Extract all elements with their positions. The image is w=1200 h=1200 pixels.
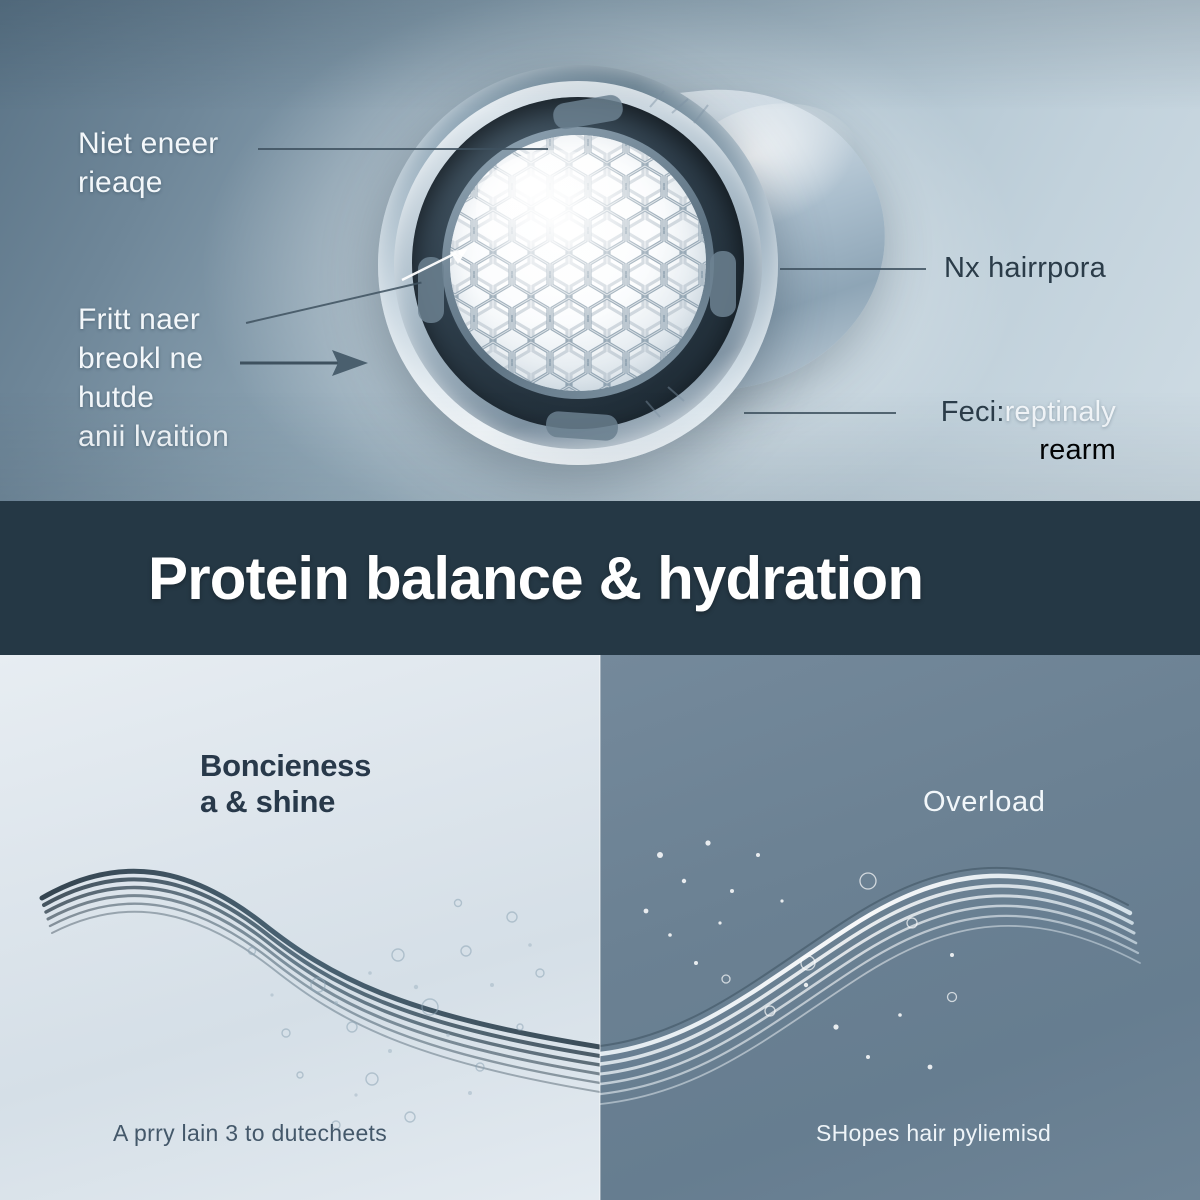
core-pointer-arrow-icon	[400, 246, 470, 291]
panel-left-title-line1: Boncieness	[200, 748, 371, 784]
panel-left-title-line2: a & shine	[200, 784, 371, 820]
panel-left-caption: A prry lain 3 to dutecheets	[113, 1120, 387, 1147]
panel-overload	[600, 655, 1200, 1200]
hair-strands-light-illustration	[600, 655, 1200, 1200]
panel-right-title-line1: Overload	[923, 786, 1045, 820]
infographic-poster: Niet eneer rieaqe Fritt naer breokl ne h…	[0, 0, 1200, 1200]
panel-right-title: Overload	[923, 786, 1045, 820]
diagram-label-mid-left-line2: breokl ne	[78, 339, 229, 378]
diagram-label-lower-right: Feci:reptinaly rearm	[904, 394, 1116, 469]
honeycomb-gloss	[476, 150, 635, 268]
panel-divider	[599, 655, 601, 1200]
hair-strands-dark-illustration	[0, 655, 600, 1200]
diagram-label-top-left-line1: Niet eneer	[78, 124, 218, 163]
panel-balanced	[0, 655, 600, 1200]
diagram-label-mid-left: Fritt naer breokl ne hutde anii lvaition	[78, 300, 229, 456]
diagram-label-mid-left-line4: anii lvaition	[78, 417, 229, 456]
leader-line-top-left	[258, 148, 548, 150]
breakage-arrow-icon	[240, 348, 370, 383]
leader-line-lower-right	[744, 412, 896, 414]
honeycomb-core	[450, 135, 706, 391]
leader-line-mid-right	[780, 268, 926, 270]
diagram-section: Niet eneer rieaqe Fritt naer breokl ne h…	[0, 0, 1200, 501]
panel-right-caption: SHopes hair pyliemisd	[816, 1120, 1051, 1147]
diagram-label-lower-right-line1: Feci:	[941, 396, 1005, 428]
comparison-panels	[0, 655, 1200, 1200]
diagram-label-mid-right-line1: Nx hairrpora	[944, 250, 1106, 288]
title-banner: Protein balance & hydration	[0, 501, 1200, 655]
diagram-label-mid-left-line3: hutde	[78, 378, 229, 417]
page-title: Protein balance & hydration	[148, 544, 923, 613]
diagram-label-lower-right-line2: reptinaly	[1005, 396, 1116, 428]
diagram-label-top-left: Niet eneer rieaqe	[78, 124, 218, 202]
diagram-label-top-left-line2: rieaqe	[78, 163, 218, 202]
diagram-label-lower-right-line3: rearm	[904, 432, 1116, 470]
panel-left-title: Boncieness a & shine	[200, 748, 371, 820]
diagram-label-mid-left-line1: Fritt naer	[78, 300, 229, 339]
diagram-label-mid-right: Nx hairrpora	[944, 250, 1106, 288]
